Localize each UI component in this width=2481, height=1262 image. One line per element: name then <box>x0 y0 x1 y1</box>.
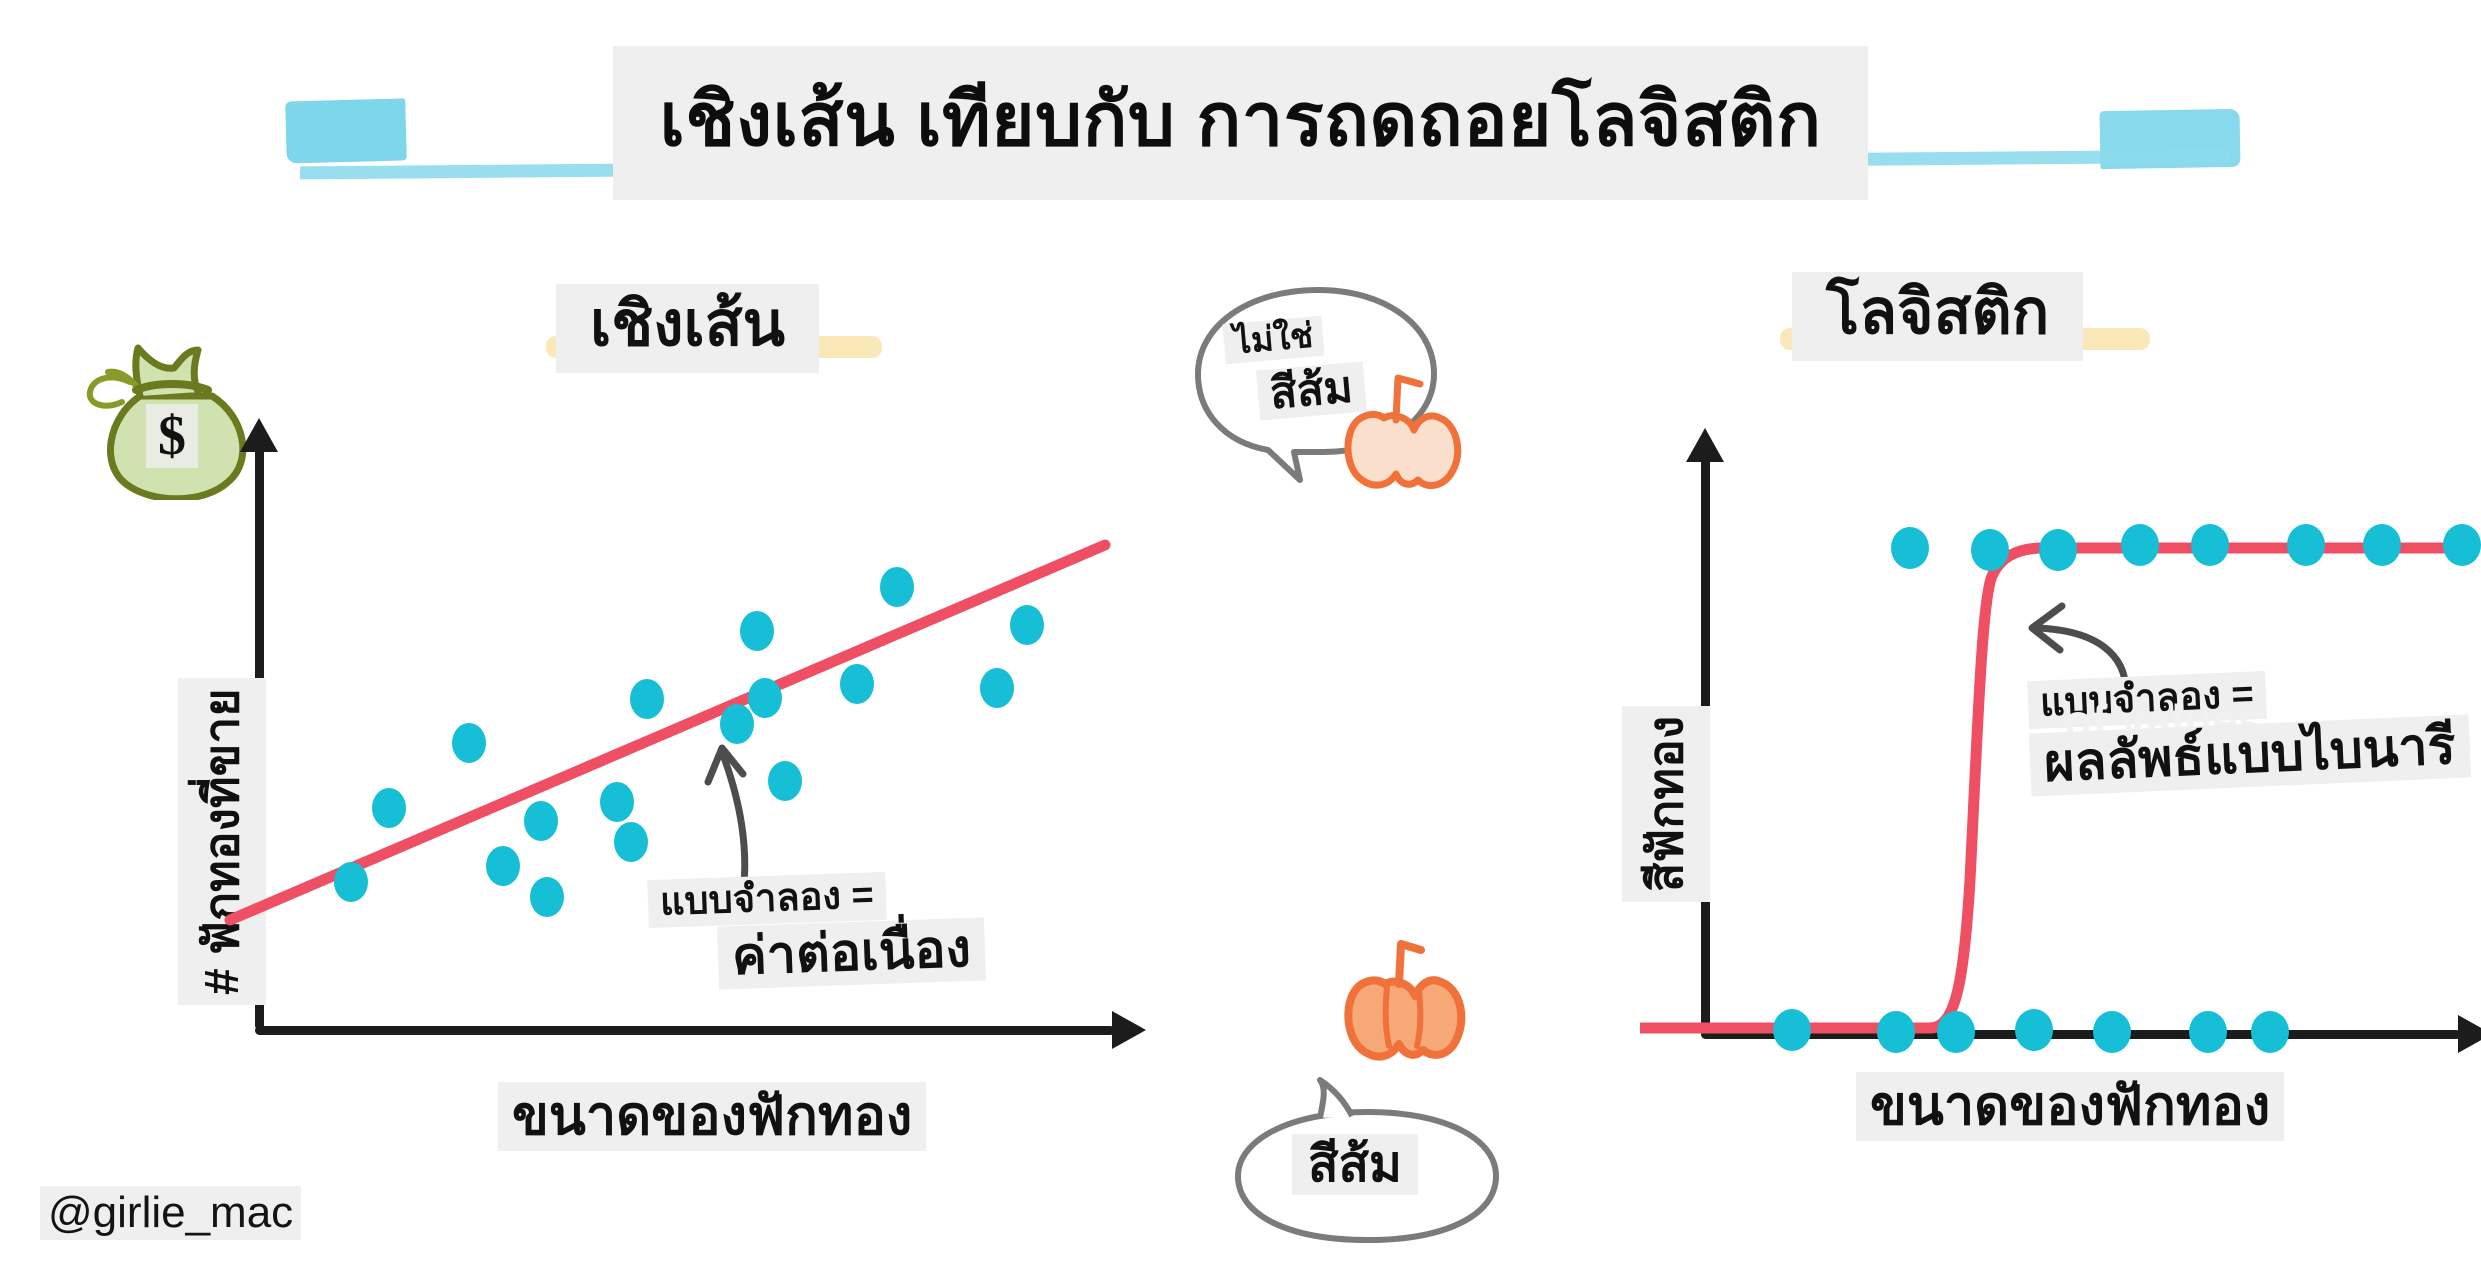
data-point <box>1877 1011 1915 1053</box>
data-point <box>1971 529 2009 571</box>
data-point <box>530 877 564 917</box>
data-point <box>2287 524 2325 566</box>
data-point <box>1773 1009 1811 1051</box>
data-point <box>2191 524 2229 566</box>
data-point <box>2121 524 2159 566</box>
data-point <box>1937 1011 1975 1053</box>
data-point <box>630 679 664 719</box>
data-point <box>334 862 368 902</box>
data-point <box>2189 1011 2227 1053</box>
data-point <box>614 822 648 862</box>
left-scatter-points <box>0 0 1240 1262</box>
data-point <box>2363 524 2401 566</box>
data-point <box>880 567 914 607</box>
data-point <box>452 723 486 763</box>
data-point <box>486 846 520 886</box>
speech-bubble-bottom-text: สีส้ม <box>1292 1134 1418 1195</box>
pumpkin-orange-icon <box>1335 930 1475 1070</box>
poster-canvas: เชิงเส้น เทียบกับ การถดถอยโลจิสติก เชิงเ… <box>0 0 2481 1262</box>
data-point <box>2039 529 2077 571</box>
left-annotation-line1: แบบจำลอง = <box>647 872 886 928</box>
right-panel: โลจิสติก ไม่ใช่ สีส้ม สีฟักทอง ขนาดของฟั… <box>1240 0 2481 1262</box>
data-point <box>2015 1009 2053 1051</box>
data-point <box>980 668 1014 708</box>
data-point <box>740 611 774 651</box>
data-point <box>1010 605 1044 645</box>
data-point <box>1891 527 1929 569</box>
right-x-axis-label: ขนาดของฟักทอง <box>1856 1072 2284 1141</box>
data-point <box>840 664 874 704</box>
left-annotation-line2: ค่าต่อเนื่อง <box>717 917 986 989</box>
data-point <box>2443 524 2481 566</box>
attribution-handle: @girlie_mac <box>40 1186 301 1240</box>
data-point <box>372 788 406 828</box>
data-point <box>2251 1011 2289 1053</box>
left-panel: เชิงเส้น $ # ฟักทองที่ขาย ขนาดของฟักทอง <box>0 0 1240 1262</box>
data-point <box>2093 1011 2131 1053</box>
data-point <box>600 782 634 822</box>
pumpkin-pale-icon <box>1332 362 1472 502</box>
data-point <box>524 801 558 841</box>
